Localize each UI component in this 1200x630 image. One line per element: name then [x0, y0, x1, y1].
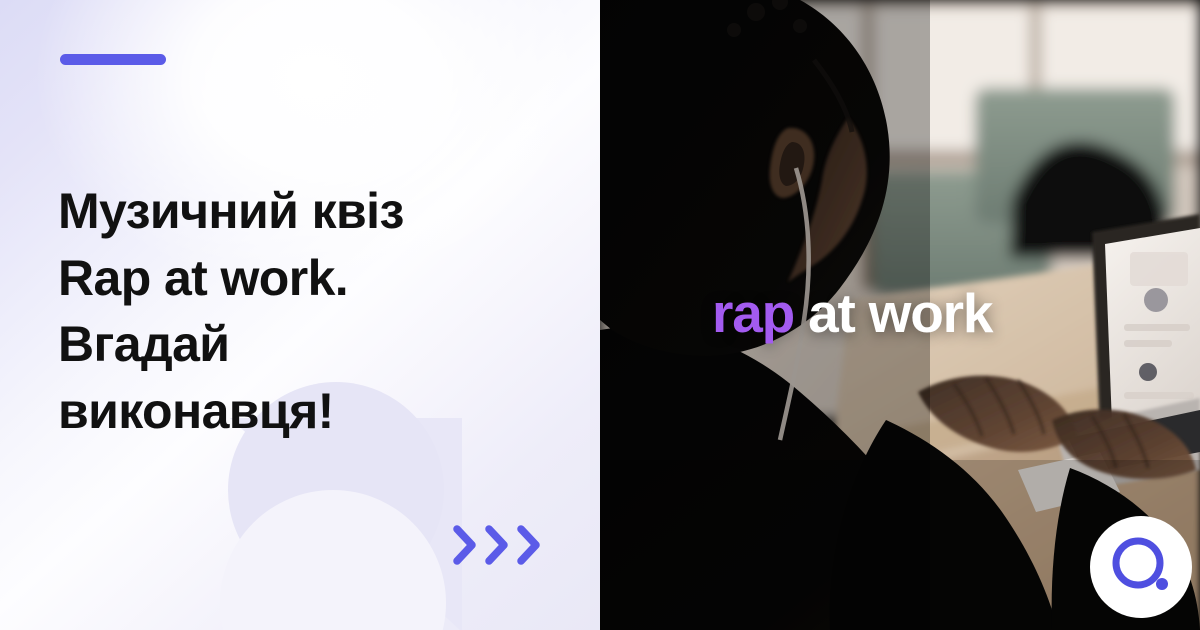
promo-banner: Музичний квіз Rap at work. Вгадай викона…: [0, 0, 1200, 630]
left-content-panel: Музичний квіз Rap at work. Вгадай викона…: [0, 0, 600, 630]
chevron-right-icon: [484, 524, 510, 566]
photo-title: rap at work: [712, 286, 992, 341]
circle-ring-logo-icon: [1105, 531, 1177, 603]
brand-logo[interactable]: [1090, 516, 1192, 618]
circle-decoration-lower: [220, 490, 446, 630]
chevron-right-icon: [452, 524, 478, 566]
photo-title-accent: rap: [712, 282, 794, 344]
right-photo-panel: rap at work: [600, 0, 1200, 630]
dash-rule-icon: [60, 54, 166, 65]
chevron-right-icon: [516, 524, 542, 566]
page-title: Музичний квіз Rap at work. Вгадай викона…: [58, 178, 568, 444]
photo-title-rest: at work: [794, 282, 992, 344]
chevron-arrows-group[interactable]: [452, 524, 542, 566]
triangle-decoration: [230, 418, 462, 630]
